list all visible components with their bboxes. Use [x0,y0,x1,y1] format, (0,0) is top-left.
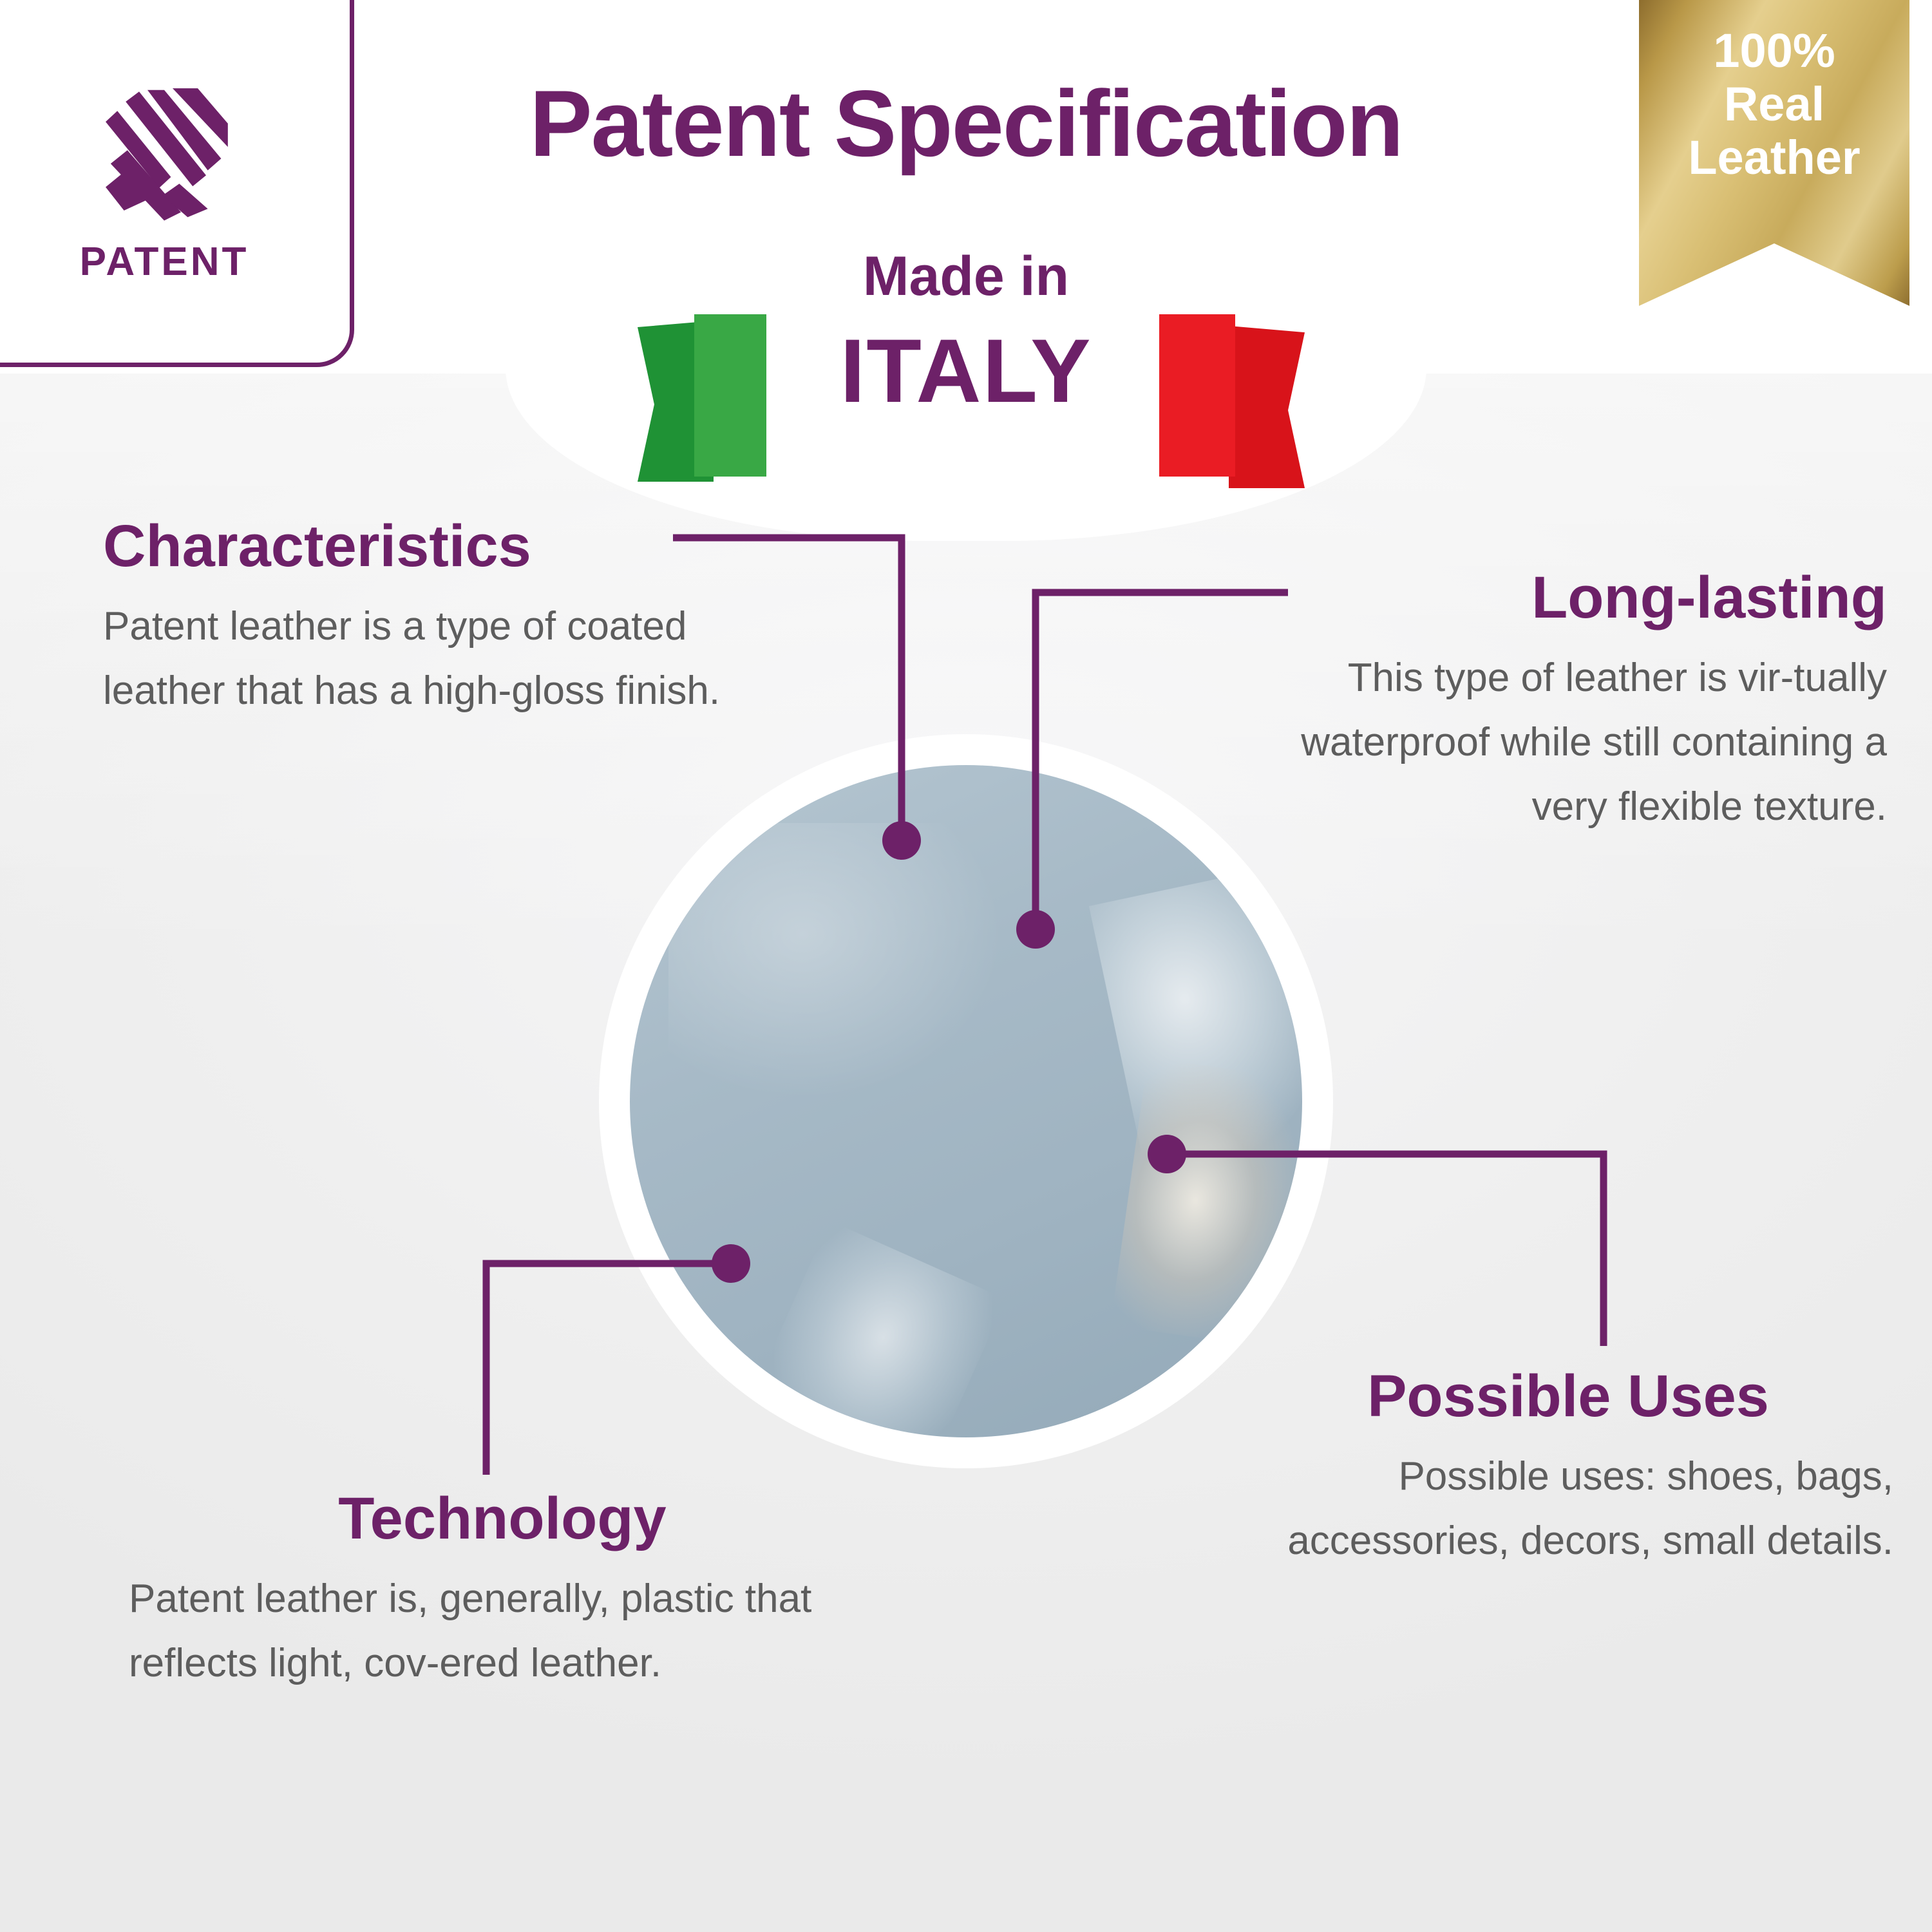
badge-line-3: Leather [1688,131,1860,185]
possible-uses-heading: Possible Uses [1243,1365,1893,1428]
block-characteristics: Characteristics Patent leather is a type… [103,515,734,723]
long-lasting-body: This type of leather is vir-tually water… [1243,646,1887,840]
characteristics-body: Patent leather is a type of coated leath… [103,594,734,724]
patent-logo-icon [80,69,248,230]
technology-body: Patent leather is, generally, plastic th… [129,1567,876,1696]
logo-wordmark: PATENT [80,239,249,285]
block-technology: Technology Patent leather is, generally,… [129,1488,876,1696]
brand-logo-card: PATENT [0,0,354,367]
block-possible-uses: Possible Uses Possible uses: shoes, bags… [1243,1365,1893,1573]
center-photo-ring [599,734,1333,1468]
patent-leather-photo [630,765,1302,1437]
technology-heading: Technology [129,1488,876,1550]
infographic-canvas: PATENT 100% Real Leather Patent Specific… [0,0,1932,1932]
badge-line-1: 100% [1713,24,1835,78]
possible-uses-body: Possible uses: shoes, bags, accessories,… [1243,1444,1893,1574]
long-lasting-heading: Long-lasting [1243,567,1887,629]
badge-line-2: Real [1724,78,1824,131]
characteristics-heading: Characteristics [103,515,734,578]
block-long-lasting: Long-lasting This type of leather is vir… [1243,567,1887,840]
